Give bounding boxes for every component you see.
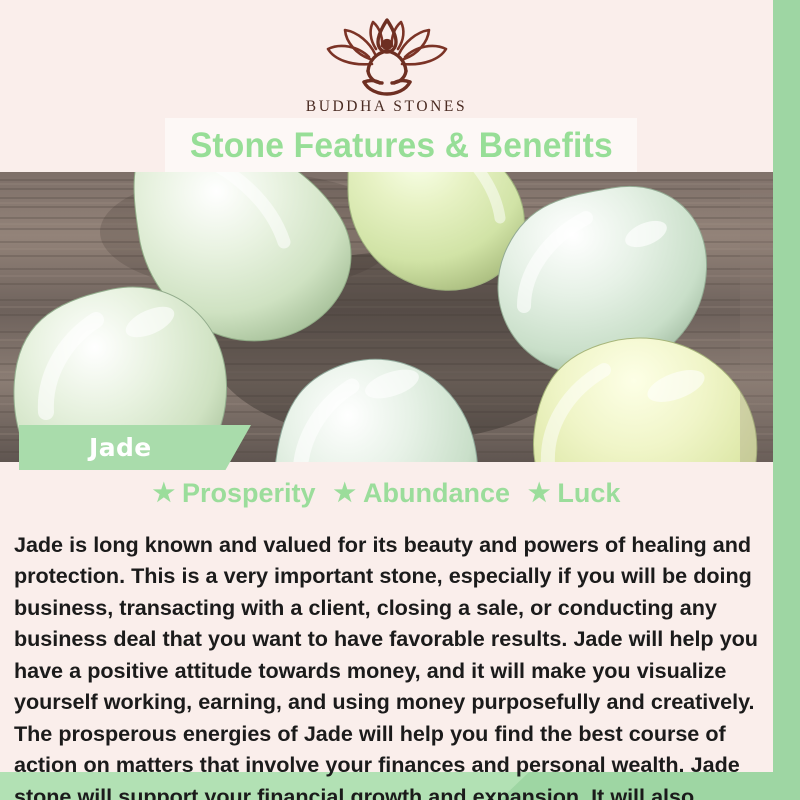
stone-name: Jade bbox=[89, 433, 152, 462]
star-icon: ★ bbox=[528, 481, 550, 506]
keyword-luck: ★ Luck bbox=[528, 478, 620, 509]
stone-description: Jade is long known and valued for its be… bbox=[14, 529, 770, 800]
star-icon: ★ bbox=[334, 481, 356, 506]
stone-benefits-poster: BUDDHA STONES Stone Features & Benefits bbox=[0, 0, 800, 800]
keyword-abundance: ★ Abundance bbox=[334, 478, 510, 509]
lotus-meditation-figure-icon bbox=[312, 16, 462, 96]
page-title: Stone Features & Benefits bbox=[189, 126, 612, 166]
jade-stones-photo bbox=[0, 172, 773, 462]
keyword-label: Luck bbox=[557, 478, 620, 509]
section-title-band: Stone Features & Benefits bbox=[165, 118, 637, 173]
keyword-prosperity: ★ Prosperity bbox=[153, 478, 316, 509]
stone-name-band: Jade bbox=[19, 425, 251, 470]
stone-keywords-row: ★ Prosperity ★ Abundance ★ Luck bbox=[0, 478, 773, 509]
green-accent-bar-right bbox=[773, 0, 800, 690]
brand-logo-block: BUDDHA STONES bbox=[0, 16, 773, 116]
keyword-label: Prosperity bbox=[182, 478, 316, 509]
star-icon: ★ bbox=[153, 481, 175, 506]
brand-wordmark: BUDDHA STONES bbox=[0, 98, 773, 116]
keyword-label: Abundance bbox=[363, 478, 510, 509]
